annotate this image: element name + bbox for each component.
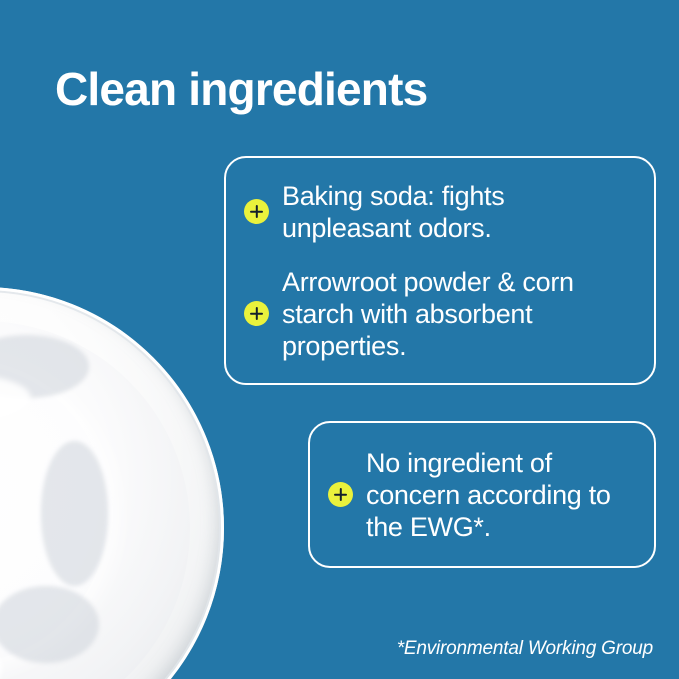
plus-badge-icon xyxy=(244,199,269,224)
plus-badge-icon xyxy=(328,482,353,507)
white-powder-bowl-image xyxy=(0,287,224,679)
powder-texture xyxy=(0,374,31,422)
list-item-label: Baking soda: fights unpleasant odors. xyxy=(282,180,638,244)
list-item-label: Arrowroot powder & corn starch with abso… xyxy=(282,266,638,362)
promo-poster: Clean ingredients Baking soda: fights un… xyxy=(0,0,679,679)
powder-mound xyxy=(0,321,190,679)
list-item: Baking soda: fights unpleasant odors. xyxy=(244,180,638,244)
powder-texture xyxy=(0,634,2,679)
powder-crater xyxy=(0,364,108,663)
footnote: *Environmental Working Group xyxy=(397,637,653,661)
list-item-label: No ingredient of concern according to th… xyxy=(366,447,638,543)
list-item: No ingredient of concern according to th… xyxy=(328,447,638,543)
page-title: Clean ingredients xyxy=(55,62,427,116)
ingredients-card: Baking soda: fights unpleasant odors. Ar… xyxy=(224,156,656,385)
powder-texture xyxy=(0,335,89,398)
powder-dish-rim xyxy=(0,287,224,679)
plus-badge-icon xyxy=(244,301,269,326)
powder-dish xyxy=(0,287,224,679)
list-item: Arrowroot powder & corn starch with abso… xyxy=(244,266,638,362)
powder-texture xyxy=(0,586,99,663)
powder-texture xyxy=(41,441,108,586)
safety-card: No ingredient of concern according to th… xyxy=(308,421,656,568)
